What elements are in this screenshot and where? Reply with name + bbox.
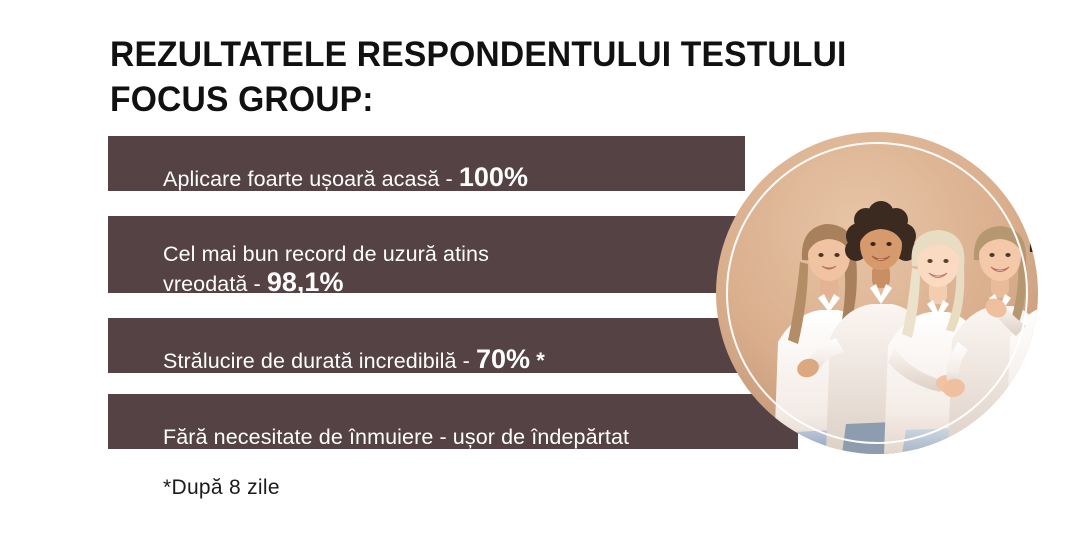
result-label: Strălucire de durată incredibilă - [163,349,476,373]
result-bar-text: Fără necesitate de înmuiere - ușor de în… [163,393,629,451]
infographic-root: Rezultatele respondentului testului focu… [0,0,1080,543]
result-bar-wear-record: Cel mai bun record de uzură atins vreoda… [108,216,745,293]
result-bar-text: Aplicare foarte ușoară acasă - 100% [163,135,528,193]
result-bar-no-soaking: Fără necesitate de înmuiere - ușor de în… [108,394,798,449]
result-bar-shine-duration: Strălucire de durată incredibilă - 70% * [108,318,745,373]
result-label: Aplicare foarte ușoară acasă - [163,167,459,191]
result-value: 70% [476,344,530,374]
result-bar-ease-of-use: Aplicare foarte ușoară acasă - 100% [108,136,745,191]
result-suffix: * [530,348,545,373]
result-bar-text: Cel mai bun record de uzură atins vreoda… [163,212,489,298]
result-value: 98,1% [267,267,344,297]
photo-circle [716,132,1038,454]
result-bar-text: Strălucire de durată incredibilă - 70% * [163,317,545,375]
footnote: *După 8 zile [163,476,280,500]
five-women-group-photo [716,132,1038,454]
result-value: 100% [459,162,528,192]
result-label: Fără necesitate de înmuiere - ușor de în… [163,425,629,449]
